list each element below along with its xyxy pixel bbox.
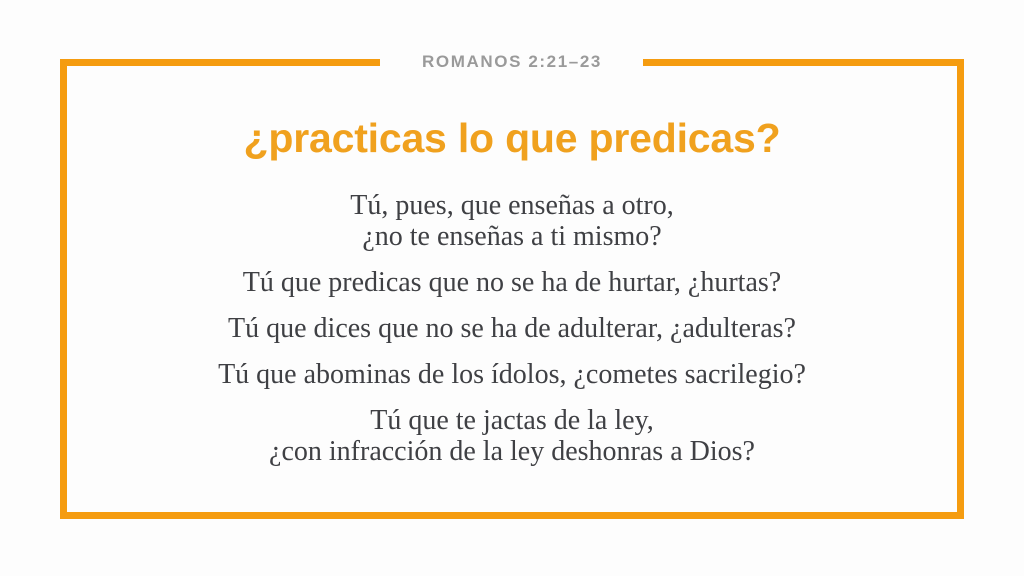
verse-line: Tú que abominas de los ídolos, ¿cometes … bbox=[91, 359, 933, 390]
verse-paragraph: Tú que abominas de los ídolos, ¿cometes … bbox=[91, 359, 933, 390]
frame-border-right bbox=[957, 59, 964, 519]
verse-line: Tú que te jactas de la ley, bbox=[91, 405, 933, 436]
verse-paragraph: Tú que te jactas de la ley, ¿con infracc… bbox=[91, 405, 933, 467]
verse-line: ¿no te enseñas a ti mismo? bbox=[91, 221, 933, 252]
frame-border-bottom bbox=[60, 512, 964, 519]
verse-paragraph: Tú que predicas que no se ha de hurtar, … bbox=[91, 267, 933, 298]
verse-line: Tú que dices que no se ha de adulterar, … bbox=[91, 313, 933, 344]
verse-list: Tú, pues, que enseñas a otro, ¿no te ens… bbox=[91, 162, 933, 467]
verse-line: ¿con infracción de la ley deshonras a Di… bbox=[91, 436, 933, 467]
page-title: ¿practicas lo que predicas? bbox=[91, 66, 933, 162]
slide-content: ¿practicas lo que predicas? Tú, pues, qu… bbox=[67, 66, 957, 512]
verse-line: Tú que predicas que no se ha de hurtar, … bbox=[91, 267, 933, 298]
scripture-slide: ROMANOS 2:21–23 ¿practicas lo que predic… bbox=[0, 0, 1024, 576]
frame-border-left bbox=[60, 59, 67, 519]
verse-paragraph: Tú que dices que no se ha de adulterar, … bbox=[91, 313, 933, 344]
verse-line: Tú, pues, que enseñas a otro, bbox=[91, 190, 933, 221]
verse-paragraph: Tú, pues, que enseñas a otro, ¿no te ens… bbox=[91, 190, 933, 252]
